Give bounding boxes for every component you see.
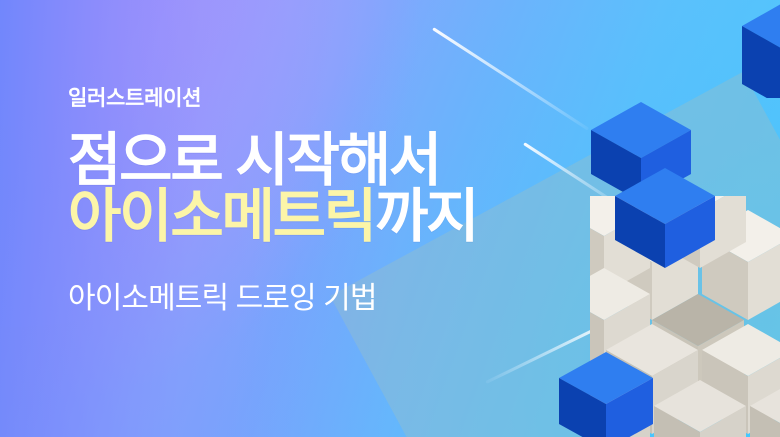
headline-line-2-accent: 아이소메트릭 (68, 184, 375, 249)
banner-eyebrow: 일러스트레이션 (68, 86, 477, 111)
illustration-course-banner: 일러스트레이션 점으로 시작해서 아이소메트릭까지 아이소메트릭 드로잉 기법 (0, 0, 780, 437)
cube-blue-lower (612, 166, 718, 270)
cube-blue-topright-clipped (736, 0, 780, 98)
banner-text-block: 일러스트레이션 점으로 시작해서 아이소메트릭까지 아이소메트릭 드로잉 기법 (68, 86, 477, 317)
banner-headline: 점으로 시작해서 아이소메트릭까지 (68, 133, 477, 244)
banner-subtitle: 아이소메트릭 드로잉 기법 (68, 281, 477, 317)
cube-blue-floating (556, 350, 656, 437)
headline-line-2-rest: 까지 (375, 184, 477, 249)
